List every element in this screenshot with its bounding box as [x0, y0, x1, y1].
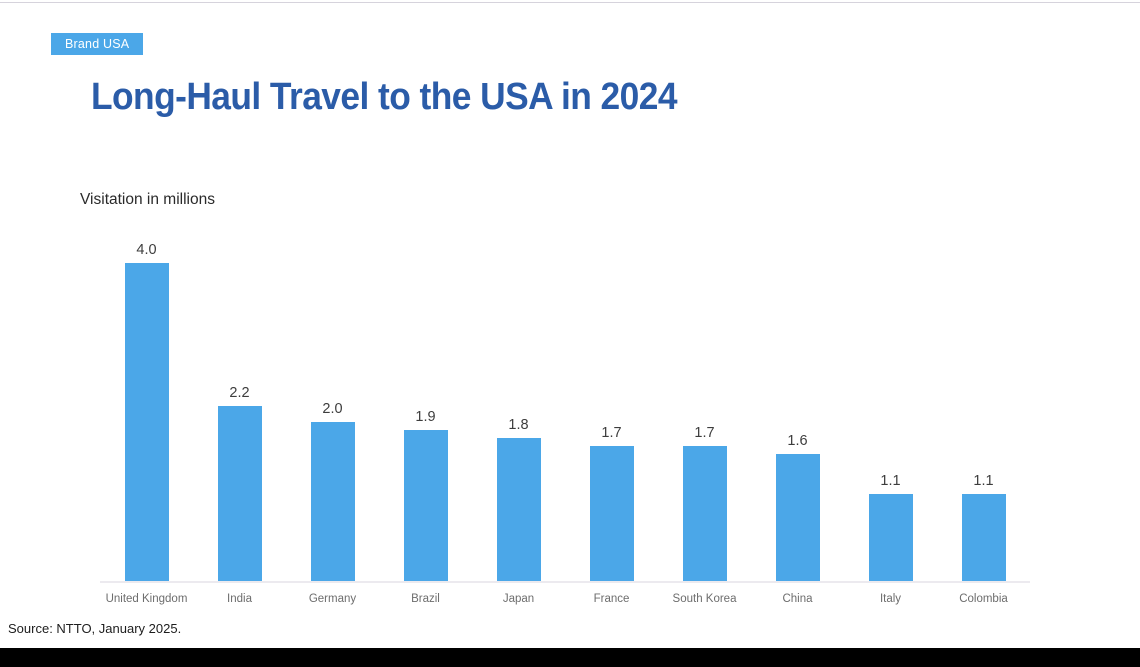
bar-group: 1.1Italy [844, 238, 937, 581]
bar-value-label: 1.1 [939, 473, 1029, 489]
bar[interactable] [497, 438, 541, 581]
bar[interactable] [311, 422, 355, 581]
bar-chart: 4.0United Kingdom2.2India2.0Germany1.9Br… [100, 238, 1030, 584]
chart-subtitle: Visitation in millions [80, 191, 215, 209]
bar[interactable] [869, 494, 913, 581]
bar-value-label: 2.2 [195, 385, 285, 401]
bar-group: 1.7France [565, 238, 658, 581]
bar-group: 1.9Brazil [379, 238, 472, 581]
bar-value-label: 4.0 [102, 242, 192, 258]
bar[interactable] [590, 446, 634, 581]
bar-value-label: 1.8 [474, 417, 564, 433]
bar-group: 1.6China [751, 238, 844, 581]
bar-group: 2.2India [193, 238, 286, 581]
bar[interactable] [218, 406, 262, 581]
x-axis-line [100, 581, 1030, 583]
bar[interactable] [404, 430, 448, 581]
bar-group: 1.8Japan [472, 238, 565, 581]
bar-group: 4.0United Kingdom [100, 238, 193, 581]
source-note: Source: NTTO, January 2025. [8, 621, 181, 636]
bar-value-label: 1.6 [753, 433, 843, 449]
bar-group: 1.1Colombia [937, 238, 1030, 581]
top-divider [0, 2, 1140, 3]
category-label: Colombia [914, 593, 1054, 605]
bar[interactable] [683, 446, 727, 581]
bar[interactable] [776, 454, 820, 581]
bar-group: 1.7South Korea [658, 238, 751, 581]
bar-value-label: 1.9 [381, 409, 471, 425]
bar-value-label: 2.0 [288, 401, 378, 417]
page-title: Long-Haul Travel to the USA in 2024 [91, 76, 677, 119]
slide-canvas: Brand USA Long-Haul Travel to the USA in… [0, 0, 1140, 667]
bar[interactable] [962, 494, 1006, 581]
bar[interactable] [125, 263, 169, 581]
plot-area: 4.0United Kingdom2.2India2.0Germany1.9Br… [100, 238, 1030, 583]
bottom-black-bar [0, 648, 1140, 667]
bar-value-label: 1.7 [660, 425, 750, 441]
bar-value-label: 1.7 [567, 425, 657, 441]
brand-usa-badge: Brand USA [51, 33, 143, 55]
bar-group: 2.0Germany [286, 238, 379, 581]
bar-value-label: 1.1 [846, 473, 936, 489]
